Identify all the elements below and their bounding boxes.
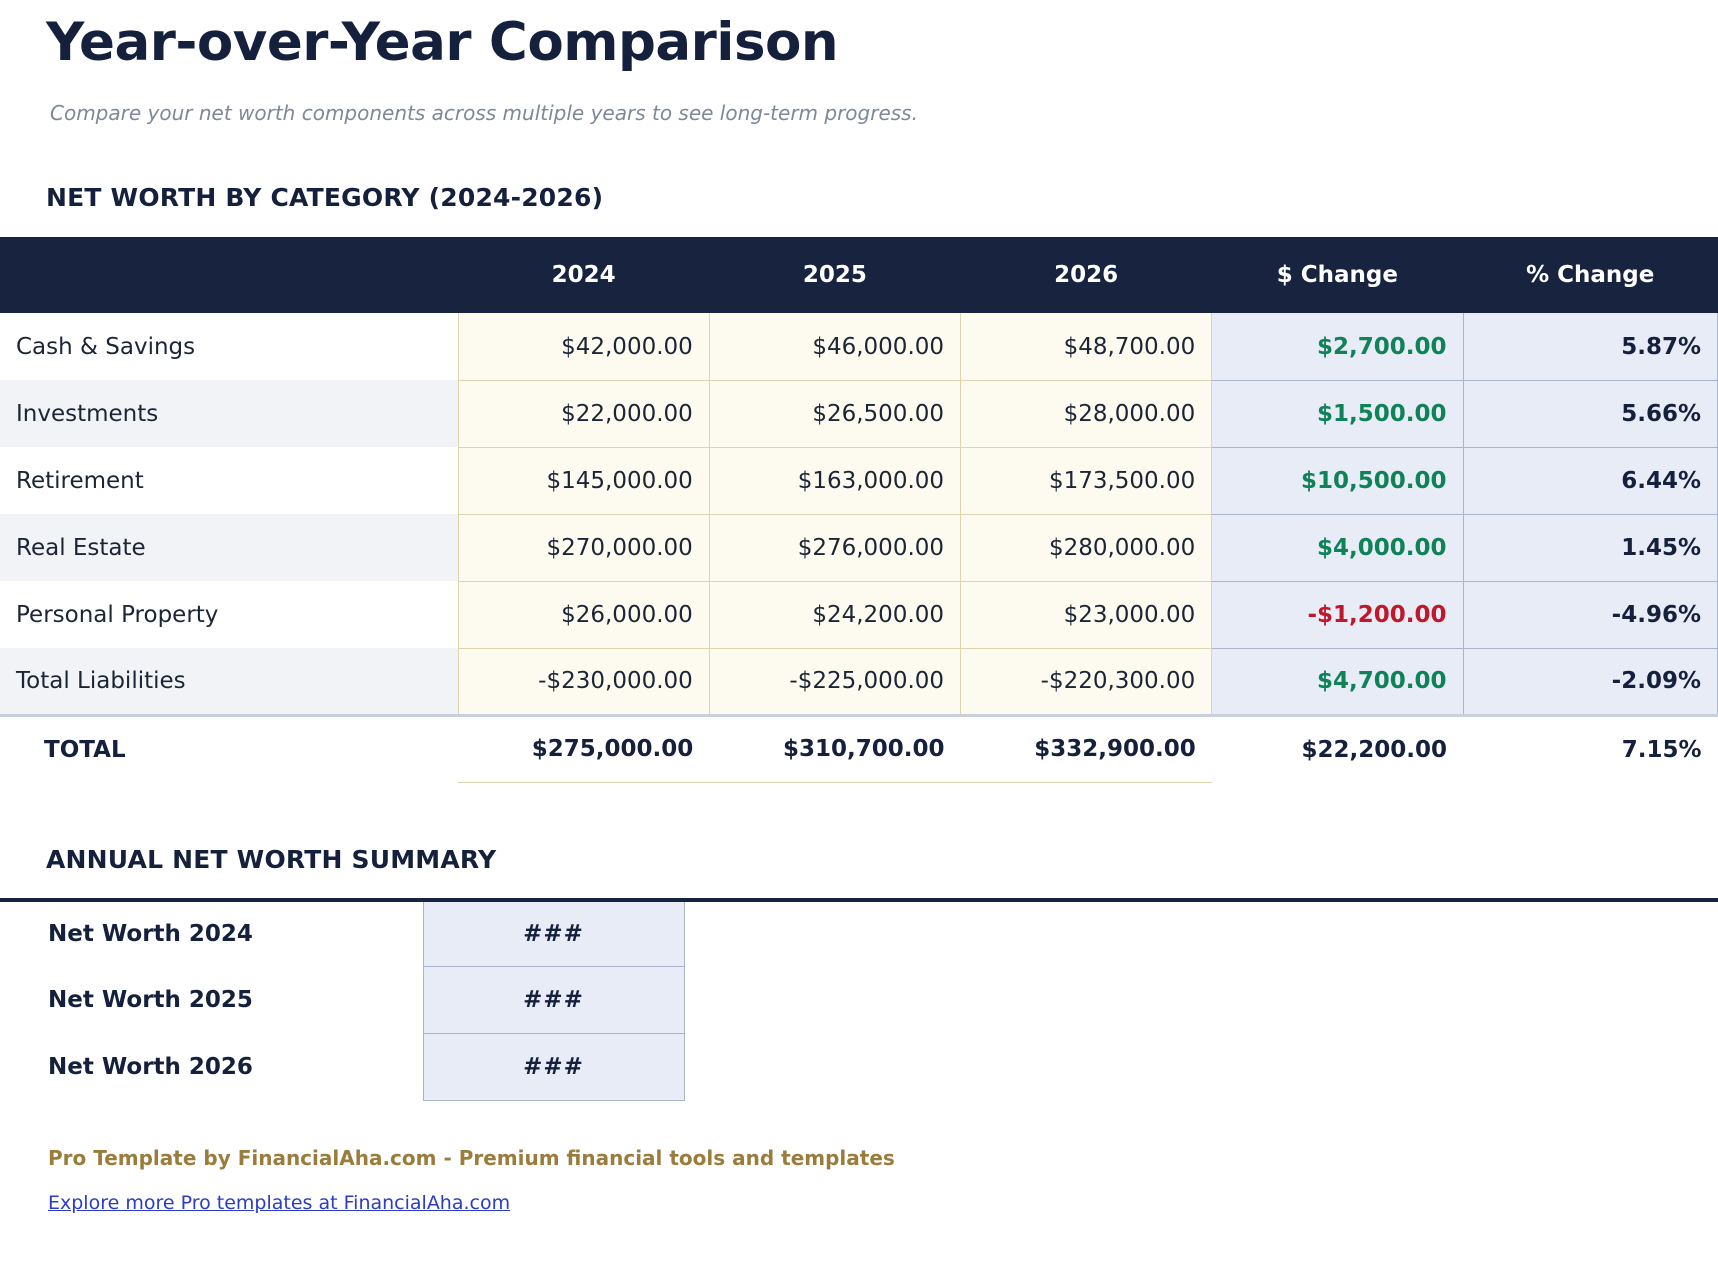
cell-2024[interactable]: $270,000.00: [458, 514, 709, 581]
table-header-row: 2024 2025 2026 $ Change % Change: [0, 237, 1718, 313]
summary-value-2026[interactable]: ###: [423, 1034, 684, 1101]
summary-value-2025[interactable]: ###: [423, 967, 684, 1034]
cell-2026[interactable]: $23,000.00: [961, 581, 1212, 648]
page-subtitle: Compare your net worth components across…: [0, 76, 1718, 126]
table-row: Personal Property $26,000.00 $24,200.00 …: [0, 581, 1718, 648]
cell-2025[interactable]: $24,200.00: [709, 581, 960, 648]
column-header-2026: 2026: [961, 237, 1212, 313]
cell-2024[interactable]: $145,000.00: [458, 447, 709, 514]
total-2026: $332,900.00: [961, 715, 1212, 782]
table-body: Cash & Savings $42,000.00 $46,000.00 $48…: [0, 313, 1718, 782]
footer-link[interactable]: Explore more Pro templates at FinancialA…: [48, 1192, 510, 1214]
cell-dollar-change: $4,000.00: [1212, 514, 1463, 581]
column-header-2025: 2025: [709, 237, 960, 313]
row-label: Real Estate: [0, 514, 458, 581]
summary-label-2024: Net Worth 2024: [0, 900, 423, 967]
table-row: Real Estate $270,000.00 $276,000.00 $280…: [0, 514, 1718, 581]
table-row: Retirement $145,000.00 $163,000.00 $173,…: [0, 447, 1718, 514]
net-worth-comparison-table: 2024 2025 2026 $ Change % Change Cash & …: [0, 237, 1718, 783]
cell-2025[interactable]: $46,000.00: [709, 313, 960, 380]
table-header: 2024 2025 2026 $ Change % Change: [0, 237, 1718, 313]
cell-2026[interactable]: $173,500.00: [961, 447, 1212, 514]
cell-dollar-change: $10,500.00: [1212, 447, 1463, 514]
cell-percent-change: -2.09%: [1463, 648, 1718, 715]
cell-percent-change: 6.44%: [1463, 447, 1718, 514]
cell-2024[interactable]: $22,000.00: [458, 380, 709, 447]
column-header-dollar-change: $ Change: [1212, 237, 1463, 313]
cell-2025[interactable]: $26,500.00: [709, 380, 960, 447]
summary-spacer: [684, 967, 1718, 1034]
table-row: Total Liabilities -$230,000.00 -$225,000…: [0, 648, 1718, 715]
cell-dollar-change: $4,700.00: [1212, 648, 1463, 715]
cell-percent-change: 5.66%: [1463, 380, 1718, 447]
section-title-annual-net-worth-summary: ANNUAL NET WORTH SUMMARY: [0, 783, 1718, 874]
cell-2024[interactable]: $26,000.00: [458, 581, 709, 648]
footer-note: Pro Template by FinancialAha.com - Premi…: [0, 1101, 1718, 1170]
page-root: Year-over-Year Comparison Compare your n…: [0, 0, 1718, 1214]
cell-2025[interactable]: $163,000.00: [709, 447, 960, 514]
total-2025: $310,700.00: [709, 715, 960, 782]
cell-2026[interactable]: $28,000.00: [961, 380, 1212, 447]
summary-row: Net Worth 2026 ###: [0, 1034, 1718, 1101]
total-label: TOTAL: [0, 715, 458, 782]
cell-percent-change: 5.87%: [1463, 313, 1718, 380]
summary-spacer: [684, 1034, 1718, 1101]
row-label: Retirement: [0, 447, 458, 514]
summary-spacer: [684, 900, 1718, 967]
cell-dollar-change: $1,500.00: [1212, 380, 1463, 447]
summary-row: Net Worth 2024 ###: [0, 900, 1718, 967]
summary-label-2025: Net Worth 2025: [0, 967, 423, 1034]
cell-percent-change: 1.45%: [1463, 514, 1718, 581]
cell-2026[interactable]: $280,000.00: [961, 514, 1212, 581]
table-row: Cash & Savings $42,000.00 $46,000.00 $48…: [0, 313, 1718, 380]
total-percent-change: 7.15%: [1463, 715, 1718, 782]
cell-dollar-change: $2,700.00: [1212, 313, 1463, 380]
table-row: Investments $22,000.00 $26,500.00 $28,00…: [0, 380, 1718, 447]
column-header-2024: 2024: [458, 237, 709, 313]
cell-2024[interactable]: -$230,000.00: [458, 648, 709, 715]
cell-2026[interactable]: $48,700.00: [961, 313, 1212, 380]
row-label: Cash & Savings: [0, 313, 458, 380]
cell-percent-change: -4.96%: [1463, 581, 1718, 648]
row-label: Investments: [0, 380, 458, 447]
cell-dollar-change: -$1,200.00: [1212, 581, 1463, 648]
summary-value-2024[interactable]: ###: [423, 900, 684, 967]
row-label: Personal Property: [0, 581, 458, 648]
page-title: Year-over-Year Comparison: [0, 0, 1718, 76]
footer-link-container: Explore more Pro templates at FinancialA…: [0, 1170, 1718, 1214]
summary-label-2026: Net Worth 2026: [0, 1034, 423, 1101]
column-header-percent-change: % Change: [1463, 237, 1718, 313]
annual-net-worth-summary-table: Net Worth 2024 ### Net Worth 2025 ### Ne…: [0, 898, 1718, 1102]
total-dollar-change: $22,200.00: [1212, 715, 1463, 782]
cell-2025[interactable]: -$225,000.00: [709, 648, 960, 715]
summary-row: Net Worth 2025 ###: [0, 967, 1718, 1034]
section-title-net-worth-by-category: NET WORTH BY CATEGORY (2024-2026): [0, 126, 1718, 212]
total-2024: $275,000.00: [458, 715, 709, 782]
cell-2025[interactable]: $276,000.00: [709, 514, 960, 581]
column-header-category: [0, 237, 458, 313]
cell-2024[interactable]: $42,000.00: [458, 313, 709, 380]
table-total-row: TOTAL $275,000.00 $310,700.00 $332,900.0…: [0, 715, 1718, 782]
row-label: Total Liabilities: [0, 648, 458, 715]
cell-2026[interactable]: -$220,300.00: [961, 648, 1212, 715]
